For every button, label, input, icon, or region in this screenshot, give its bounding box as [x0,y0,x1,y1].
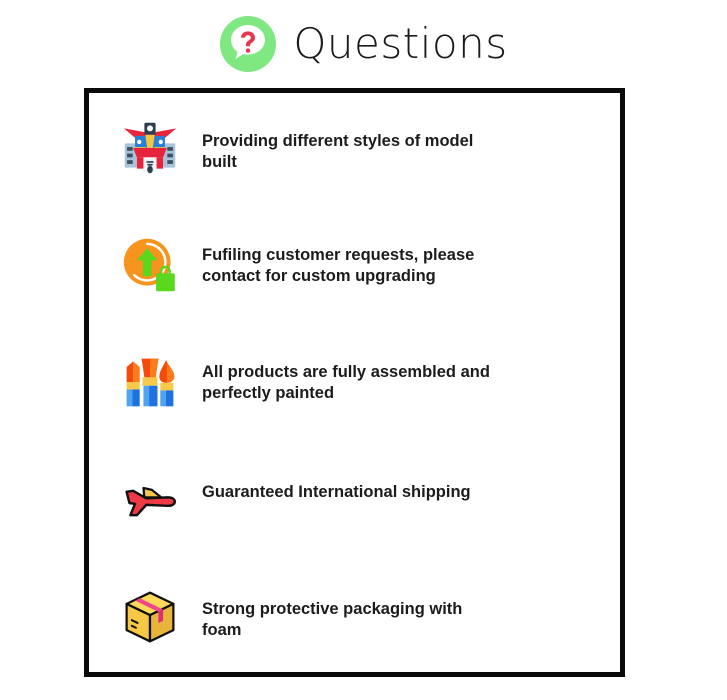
airplane-icon [119,472,181,534]
list-item: Fufiling customer requests, please conta… [89,229,620,346]
list-item-label: All products are fully assembled and per… [202,362,502,404]
upgrade-shopping-bag-icon [119,234,181,296]
questions-frame: Providing different styles of model buil… [84,88,625,677]
page-title: Questions [293,23,507,65]
questions-list: Providing different styles of model buil… [89,93,620,672]
paint-brushes-icon [119,351,181,413]
list-item-label: Strong protective packaging with foam [202,599,502,641]
list-item: Guaranteed International shipping [89,463,620,580]
list-item: Providing different styles of model buil… [89,112,620,229]
question-speech-bubble-icon [219,15,277,73]
list-item-label: Guaranteed International shipping [202,482,471,503]
page-header: Questions [0,0,727,88]
list-item: Strong protective packaging with foam [89,580,620,697]
package-box-icon [119,586,181,648]
list-item-label: Providing different styles of model buil… [202,131,502,173]
gundam-head-icon [119,117,181,179]
list-item-label: Fufiling customer requests, please conta… [202,245,502,287]
list-item: All products are fully assembled and per… [89,346,620,463]
